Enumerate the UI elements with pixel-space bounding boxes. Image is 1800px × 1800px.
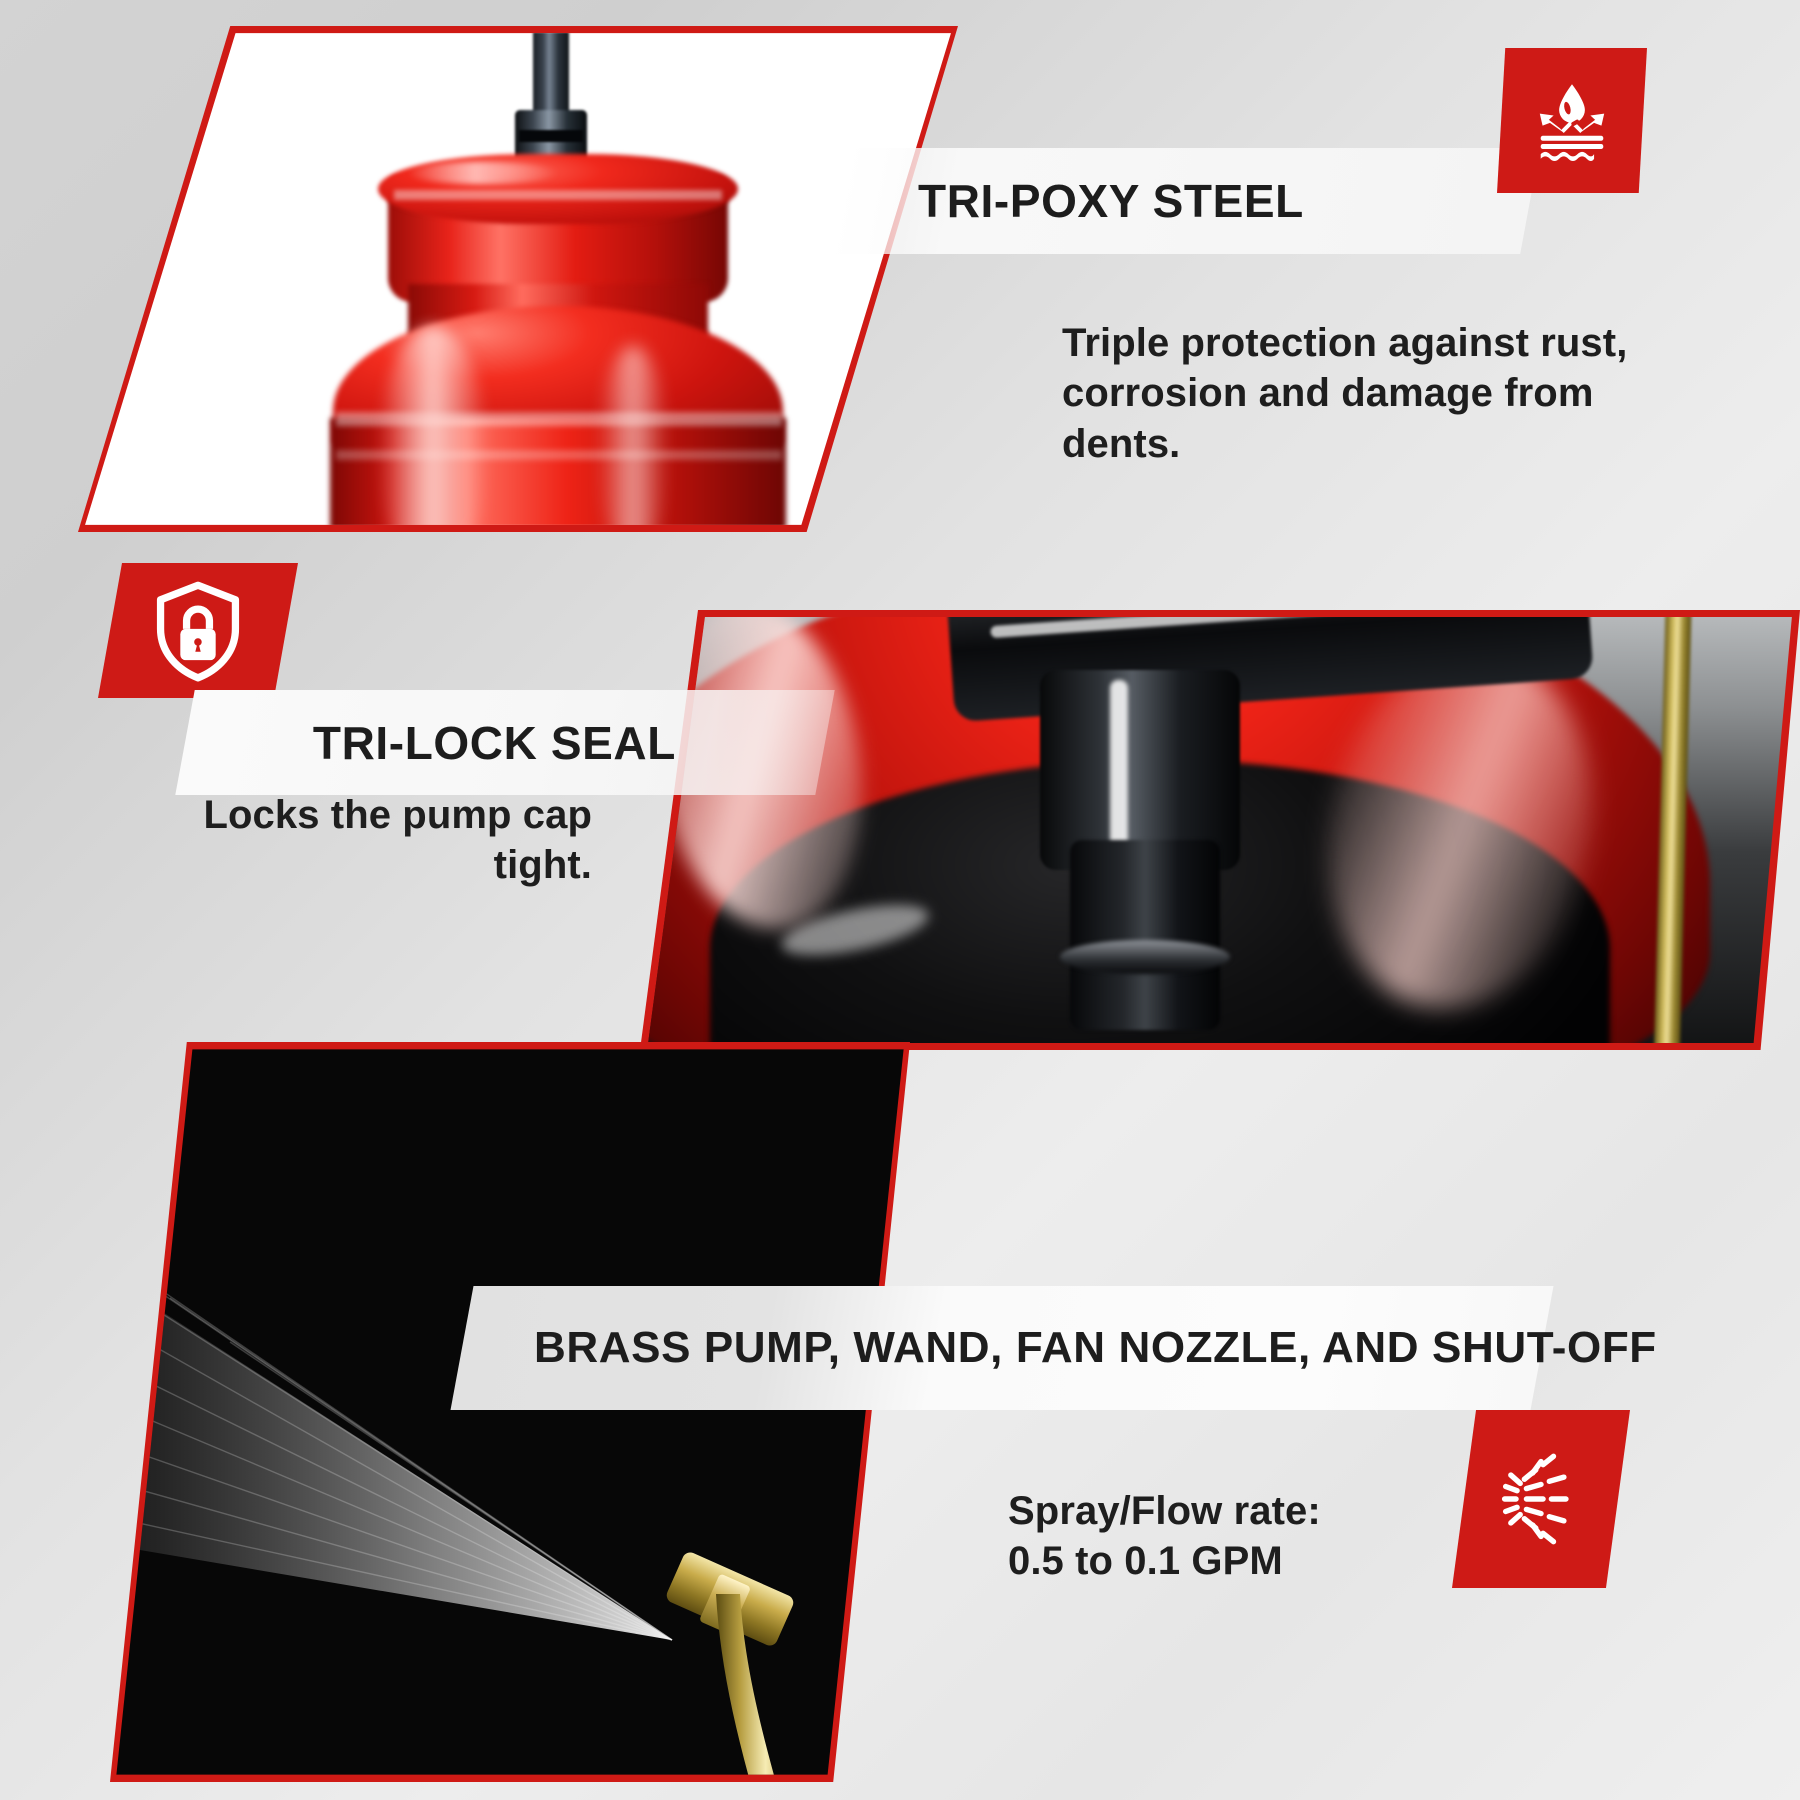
- pump-shaft-shape: [1070, 840, 1220, 1030]
- section-1-title-wrap: TRI-POXY STEEL: [840, 174, 1304, 228]
- pump-collar-groove-shape: [519, 130, 583, 142]
- brass-wand-spray-photo: [110, 1042, 910, 1782]
- section-1-body: Triple protection against rust, corrosio…: [1062, 318, 1662, 469]
- water-repellent-coating-icon: [1497, 48, 1647, 193]
- pump-cap-seal-photo: [640, 610, 1800, 1050]
- pump-seal-ring-shape: [1060, 940, 1230, 974]
- section-3-title: BRASS PUMP, WAND, FAN NOZZLE, AND SHUT-O…: [462, 1323, 1657, 1373]
- section-3-body-line-1: Spray/Flow rate:: [1008, 1486, 1528, 1536]
- pump-cap-highlight-shape: [1110, 680, 1128, 850]
- section-2-title-band: TRI-LOCK SEAL: [175, 690, 834, 795]
- section-1-title: TRI-POXY STEEL: [840, 174, 1304, 228]
- section-2-title: TRI-LOCK SEAL: [185, 716, 676, 770]
- section-3-body-line-2: 0.5 to 0.1 GPM: [1008, 1536, 1528, 1586]
- section-3-body: Spray/Flow rate: 0.5 to 0.1 GPM: [1008, 1486, 1528, 1587]
- section-2-body: Locks the pump cap tight.: [200, 790, 592, 891]
- section-2-title-wrap: TRI-LOCK SEAL: [185, 716, 676, 770]
- tank-cap-highlight-shape: [408, 162, 558, 184]
- tank-cap-rib-shape: [394, 190, 722, 200]
- infographic-canvas: TRI-POXY STEEL Triple protection against…: [0, 0, 1800, 1800]
- section-3-title-wrap: BRASS PUMP, WAND, FAN NOZZLE, AND SHUT-O…: [462, 1323, 1657, 1373]
- sprayer-tank-closeup-photo: [78, 26, 958, 532]
- section-3-title-band: BRASS PUMP, WAND, FAN NOZZLE, AND SHUT-O…: [451, 1286, 1554, 1410]
- brass-wand-shape: [696, 1590, 826, 1782]
- section-1-title-band: TRI-POXY STEEL: [830, 148, 1540, 254]
- shield-lock-icon: [98, 563, 298, 698]
